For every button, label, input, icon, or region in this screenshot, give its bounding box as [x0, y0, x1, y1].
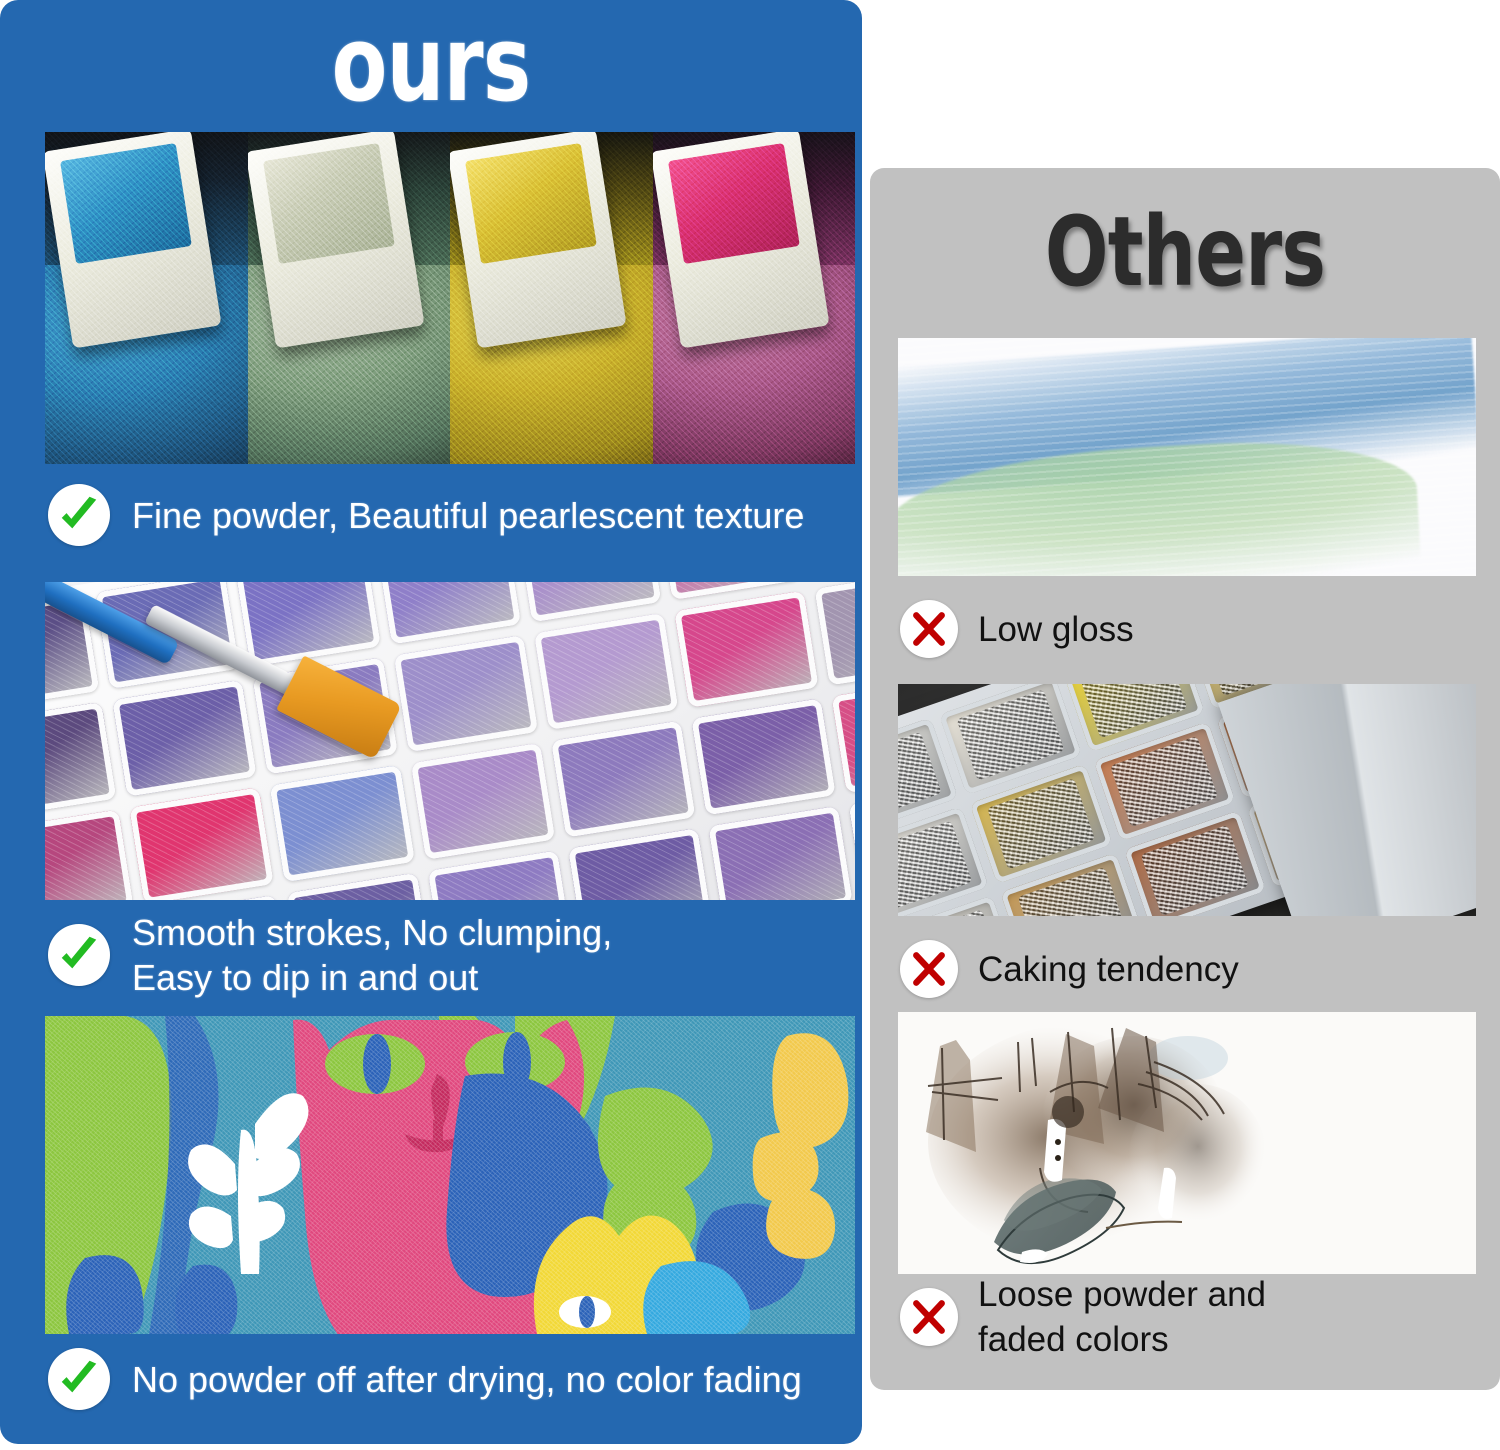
- ours-panel: ours: [0, 0, 862, 1444]
- watercolor-pan-cell: [815, 582, 855, 685]
- ours-bullet-3: No powder off after drying, no color fad…: [48, 1348, 802, 1410]
- brush-bristles: [276, 656, 402, 761]
- others-photo-caked-pans: [898, 684, 1476, 916]
- others-bullet-3: Loose powder and faded colors: [900, 1272, 1266, 1362]
- others-bullet-2-label: Caking tendency: [978, 947, 1239, 992]
- caked-pan-cell: [898, 806, 989, 916]
- check-icon: [48, 1348, 110, 1410]
- watercolor-pan-cell: [568, 828, 713, 900]
- ours-photo-palette-with-brush: [45, 582, 855, 900]
- ours-photo-folk-art-painting: [45, 1016, 855, 1334]
- others-photo-pale-wash: [898, 338, 1476, 576]
- check-icon: [48, 924, 110, 986]
- watercolor-pan-cell: [534, 613, 679, 730]
- ours-bullet-2-label: Smooth strokes, No clumping, Easy to dip…: [132, 910, 612, 1000]
- ours-bullet-1-label: Fine powder, Beautiful pearlescent textu…: [132, 493, 804, 538]
- shimmer-texture: [248, 132, 451, 464]
- powder-strip-gold: [450, 132, 653, 464]
- shimmer-texture: [653, 132, 856, 464]
- others-bullet-1: Low gloss: [900, 600, 1134, 658]
- others-photo-muddy-sketch: [898, 1012, 1476, 1274]
- ours-photo-metallic-powder-pans: [45, 132, 855, 464]
- ours-bullet-3-label: No powder off after drying, no color fad…: [132, 1357, 802, 1402]
- watercolor-pan-cell: [832, 676, 855, 793]
- check-icon: [48, 484, 110, 546]
- powder-strip-silver-green: [248, 132, 451, 464]
- cross-icon: [900, 600, 958, 658]
- cross-icon: [900, 940, 958, 998]
- paintbrush: [45, 582, 531, 798]
- powder-strip-cyan-blue: [45, 132, 248, 464]
- watercolor-pan-cell: [708, 806, 853, 900]
- cross-icon: [900, 1288, 958, 1346]
- ours-bullet-2: Smooth strokes, No clumping, Easy to dip…: [48, 910, 612, 1000]
- watercolor-pan-cell: [674, 590, 819, 707]
- ours-bullet-1: Fine powder, Beautiful pearlescent textu…: [48, 484, 804, 546]
- watercolor-pan-cell: [427, 850, 572, 900]
- watercolor-pan-cell: [129, 787, 274, 900]
- watercolor-pan-cell: [551, 720, 696, 837]
- powder-strip-magenta-pink: [653, 132, 856, 464]
- ours-title: ours: [95, 8, 767, 120]
- others-title: Others: [939, 200, 1430, 304]
- brush-streak-texture: [898, 338, 1476, 576]
- others-bullet-1-label: Low gloss: [978, 607, 1134, 652]
- others-bullet-2: Caking tendency: [900, 940, 1239, 998]
- shimmer-texture: [45, 132, 248, 464]
- watercolor-pan-cell: [691, 698, 836, 815]
- watercolor-pan-cell: [45, 809, 134, 900]
- others-bullet-3-label: Loose powder and faded colors: [978, 1272, 1266, 1362]
- shimmer-texture: [450, 132, 653, 464]
